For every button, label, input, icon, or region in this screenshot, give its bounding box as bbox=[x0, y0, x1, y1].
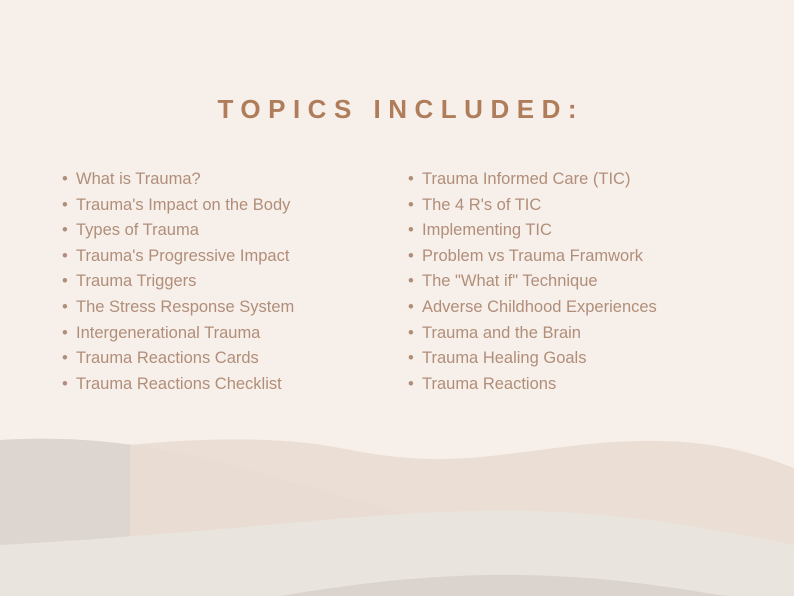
list-item: • Trauma Informed Care (TIC) bbox=[408, 167, 768, 193]
list-item-label: Trauma Informed Care (TIC) bbox=[422, 167, 630, 193]
list-item-label: Types of Trauma bbox=[76, 218, 199, 244]
page-title: TOPICS INCLUDED: bbox=[0, 94, 794, 125]
bullet-icon: • bbox=[408, 372, 422, 398]
bullet-icon: • bbox=[62, 372, 76, 398]
list-item: • Trauma's Progressive Impact bbox=[62, 244, 392, 270]
list-item-label: Trauma Triggers bbox=[76, 269, 196, 295]
list-item: • Trauma Reactions bbox=[408, 372, 768, 398]
bullet-icon: • bbox=[408, 218, 422, 244]
list-item: • Trauma's Impact on the Body bbox=[62, 193, 392, 219]
list-item-label: Trauma Reactions Cards bbox=[76, 346, 259, 372]
list-item-label: Intergenerational Trauma bbox=[76, 321, 260, 347]
wave-grey-taupe bbox=[0, 439, 794, 596]
slide-canvas: TOPICS INCLUDED: • What is Trauma? • Tra… bbox=[0, 0, 794, 596]
list-item: • Trauma Triggers bbox=[62, 269, 392, 295]
list-item-label: Trauma Healing Goals bbox=[422, 346, 586, 372]
list-item: • Trauma Healing Goals bbox=[408, 346, 768, 372]
bullet-icon: • bbox=[408, 167, 422, 193]
list-item: • Intergenerational Trauma bbox=[62, 321, 392, 347]
list-item: • The Stress Response System bbox=[62, 295, 392, 321]
list-item: • Trauma Reactions Checklist bbox=[62, 372, 392, 398]
bullet-icon: • bbox=[62, 167, 76, 193]
bullet-icon: • bbox=[62, 295, 76, 321]
bullet-icon: • bbox=[62, 193, 76, 219]
list-item: • Trauma Reactions Cards bbox=[62, 346, 392, 372]
topics-column-right: • Trauma Informed Care (TIC) • The 4 R's… bbox=[408, 167, 768, 397]
list-item-label: Problem vs Trauma Framwork bbox=[422, 244, 643, 270]
list-item: • The "What if" Technique bbox=[408, 269, 768, 295]
list-item-label: Implementing TIC bbox=[422, 218, 552, 244]
wave-bottom-taupe bbox=[300, 576, 794, 596]
bullet-icon: • bbox=[408, 269, 422, 295]
bullet-icon: • bbox=[408, 193, 422, 219]
list-item-label: Trauma's Progressive Impact bbox=[76, 244, 289, 270]
list-item-label: The "What if" Technique bbox=[422, 269, 598, 295]
list-item: • Adverse Childhood Experiences bbox=[408, 295, 768, 321]
bullet-icon: • bbox=[62, 346, 76, 372]
list-item: • Types of Trauma bbox=[62, 218, 392, 244]
list-item-label: What is Trauma? bbox=[76, 167, 201, 193]
list-item-label: Trauma Reactions Checklist bbox=[76, 372, 282, 398]
bullet-icon: • bbox=[62, 269, 76, 295]
wave-light-beige bbox=[0, 511, 794, 596]
wave-peach-tan bbox=[130, 439, 794, 596]
bullet-icon: • bbox=[62, 244, 76, 270]
list-item: • What is Trauma? bbox=[62, 167, 392, 193]
topics-columns: • What is Trauma? • Trauma's Impact on t… bbox=[0, 167, 794, 402]
topics-column-left: • What is Trauma? • Trauma's Impact on t… bbox=[62, 167, 392, 397]
bullet-icon: • bbox=[408, 346, 422, 372]
list-item-label: Trauma and the Brain bbox=[422, 321, 581, 347]
list-item: • The 4 R's of TIC bbox=[408, 193, 768, 219]
bullet-icon: • bbox=[62, 321, 76, 347]
bullet-icon: • bbox=[408, 295, 422, 321]
wave-bottom-taupe-fill bbox=[280, 575, 794, 596]
list-item: • Trauma and the Brain bbox=[408, 321, 768, 347]
list-item-label: Trauma's Impact on the Body bbox=[76, 193, 290, 219]
list-item-label: The 4 R's of TIC bbox=[422, 193, 541, 219]
list-item-label: Trauma Reactions bbox=[422, 372, 556, 398]
list-item-label: The Stress Response System bbox=[76, 295, 294, 321]
bullet-icon: • bbox=[408, 244, 422, 270]
bullet-icon: • bbox=[62, 218, 76, 244]
list-item: • Problem vs Trauma Framwork bbox=[408, 244, 768, 270]
list-item-label: Adverse Childhood Experiences bbox=[422, 295, 657, 321]
bullet-icon: • bbox=[408, 321, 422, 347]
list-item: • Implementing TIC bbox=[408, 218, 768, 244]
